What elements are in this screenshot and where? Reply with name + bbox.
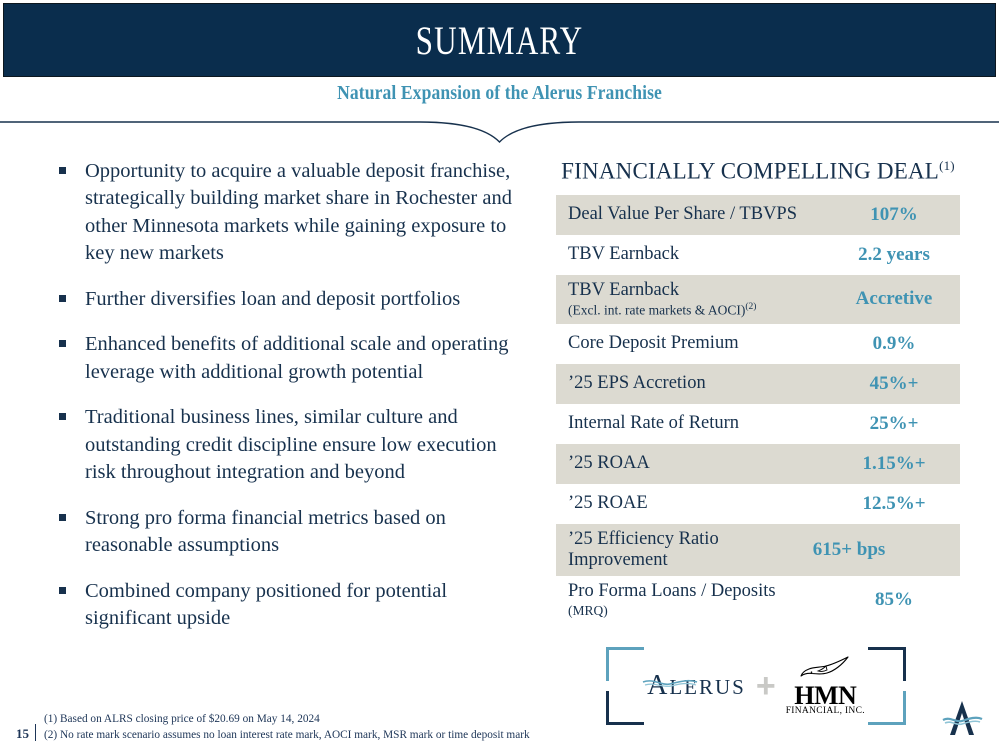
- metric-sublabel-text: (MRQ): [568, 603, 608, 618]
- metric-label: Core Deposit Premium: [568, 333, 838, 354]
- alerus-wave-icon: [642, 677, 698, 689]
- alerus-mark-icon: [939, 695, 985, 741]
- page-title: SUMMARY: [416, 17, 584, 64]
- logo-lockup: ALERUS + HMN FINANCIAL, INC.: [606, 647, 906, 725]
- list-item: Opportunity to acquire a valuable deposi…: [55, 158, 525, 268]
- square-bullet-icon: [59, 340, 66, 347]
- metric-label-text: TBV Earnback: [568, 280, 679, 300]
- square-bullet-icon: [59, 587, 66, 594]
- metric-label: Pro Forma Loans / Deposits (MRQ): [568, 581, 838, 619]
- metric-sublabel: (Excl. int. rate markets & AOCI)(2): [568, 302, 838, 319]
- list-item-label: Combined company positioned for potentia…: [85, 580, 447, 629]
- table-row: ’25 EPS Accretion 45%+: [556, 364, 960, 404]
- subtitle: Natural Expansion of the Alerus Franchis…: [60, 82, 939, 105]
- list-item-label: Traditional business lines, similar cult…: [85, 406, 497, 483]
- hmn-logo-sub: FINANCIAL, INC.: [786, 707, 865, 717]
- metric-value: Accretive: [838, 288, 950, 310]
- logo-inner: ALERUS + HMN FINANCIAL, INC.: [622, 647, 890, 725]
- list-item-label: Further diversifies loan and deposit por…: [85, 288, 460, 310]
- metric-label-text: ’25 EPS Accretion: [568, 373, 706, 393]
- metric-value: 12.5%+: [838, 493, 950, 515]
- square-bullet-icon: [59, 295, 66, 302]
- table-row: ’25 Efficiency Ratio Improvement 615+ bp…: [556, 524, 960, 577]
- divider-notch-icon: [0, 112, 999, 144]
- bird-icon: [798, 655, 852, 681]
- list-item-label: Opportunity to acquire a valuable deposi…: [85, 160, 512, 264]
- panel-heading: FINANCIALLY COMPELLING DEAL(1): [556, 158, 960, 185]
- panel-heading-label: FINANCIALLY COMPELLING DEAL: [561, 159, 939, 184]
- metrics-table: Deal Value Per Share / TBVPS 107% TBV Ea…: [556, 195, 960, 625]
- list-item: Enhanced benefits of additional scale an…: [55, 331, 525, 386]
- metric-label: Deal Value Per Share / TBVPS: [568, 204, 838, 225]
- alerus-logo: ALERUS: [647, 670, 746, 702]
- square-bullet-icon: [59, 413, 66, 420]
- metric-label: TBV Earnback: [568, 244, 838, 265]
- metric-sublabel-text: (Excl. int. rate markets & AOCI): [568, 302, 745, 317]
- table-row: Pro Forma Loans / Deposits (MRQ) 85%: [556, 576, 960, 624]
- metric-label: ’25 ROAE: [568, 493, 838, 514]
- square-bullet-icon: [59, 514, 66, 521]
- metric-value: 85%: [838, 589, 950, 611]
- metric-sublabel-footnote: (2): [745, 302, 756, 312]
- table-row: TBV Earnback (Excl. int. rate markets & …: [556, 275, 960, 324]
- metric-label: Internal Rate of Return: [568, 413, 838, 434]
- table-row: TBV Earnback 2.2 years: [556, 235, 960, 275]
- metric-label-text: ’25 ROAA: [568, 453, 650, 473]
- footnotes: (1) Based on ALRS closing price of $20.6…: [44, 711, 530, 743]
- metric-label-text: Deal Value Per Share / TBVPS: [568, 204, 797, 224]
- list-item-label: Strong pro forma financial metrics based…: [85, 507, 446, 556]
- metric-value: 45%+: [838, 373, 950, 395]
- panel-heading-footnote: (1): [939, 158, 955, 173]
- metric-label: ’25 ROAA: [568, 453, 838, 474]
- metric-label-text: ’25 Efficiency Ratio Improvement: [568, 529, 719, 570]
- metric-value: 615+ bps: [793, 539, 905, 561]
- list-item-label: Enhanced benefits of additional scale an…: [85, 333, 509, 382]
- metric-sublabel: (MRQ): [568, 603, 838, 619]
- metric-value: 107%: [838, 204, 950, 226]
- table-row: Core Deposit Premium 0.9%: [556, 324, 960, 364]
- metrics-panel: FINANCIALLY COMPELLING DEAL(1) Deal Valu…: [556, 158, 960, 625]
- square-bullet-icon: [59, 167, 66, 174]
- metric-value: 0.9%: [838, 333, 950, 355]
- plus-icon: +: [756, 669, 776, 703]
- hmn-logo: HMN FINANCIAL, INC.: [786, 655, 865, 717]
- bullet-list: Opportunity to acquire a valuable deposi…: [55, 158, 525, 651]
- metric-value: 1.15%+: [838, 453, 950, 475]
- metric-label-text: Core Deposit Premium: [568, 333, 739, 353]
- metric-label-text: Pro Forma Loans / Deposits: [568, 581, 776, 601]
- metric-label-text: ’25 ROAE: [568, 493, 648, 513]
- footnote-2: (2) No rate mark scenario assumes no loa…: [44, 727, 530, 743]
- metric-label-text: Internal Rate of Return: [568, 413, 739, 433]
- metric-label: TBV Earnback (Excl. int. rate markets & …: [568, 280, 838, 319]
- table-row: ’25 ROAA 1.15%+: [556, 444, 960, 484]
- slide: SUMMARY Natural Expansion of the Alerus …: [0, 0, 999, 749]
- metric-label-text: TBV Earnback: [568, 244, 679, 264]
- list-item: Combined company positioned for potentia…: [55, 578, 525, 633]
- table-row: Deal Value Per Share / TBVPS 107%: [556, 195, 960, 235]
- metric-label: ’25 EPS Accretion: [568, 373, 838, 394]
- footnote-1: (1) Based on ALRS closing price of $20.6…: [44, 711, 530, 727]
- page-number: 15: [16, 726, 29, 743]
- table-row: Internal Rate of Return 25%+: [556, 404, 960, 444]
- metric-label: ’25 Efficiency Ratio Improvement: [568, 529, 793, 572]
- list-item: Traditional business lines, similar cult…: [55, 404, 525, 486]
- metric-value: 25%+: [838, 413, 950, 435]
- footer: 15 (1) Based on ALRS closing price of $2…: [16, 711, 530, 743]
- header-bar: SUMMARY: [3, 3, 996, 77]
- footer-divider: [35, 724, 36, 741]
- divider: [0, 112, 999, 144]
- list-item: Further diversifies loan and deposit por…: [55, 286, 525, 313]
- list-item: Strong pro forma financial metrics based…: [55, 505, 525, 560]
- metric-value: 2.2 years: [838, 244, 950, 266]
- table-row: ’25 ROAE 12.5%+: [556, 484, 960, 524]
